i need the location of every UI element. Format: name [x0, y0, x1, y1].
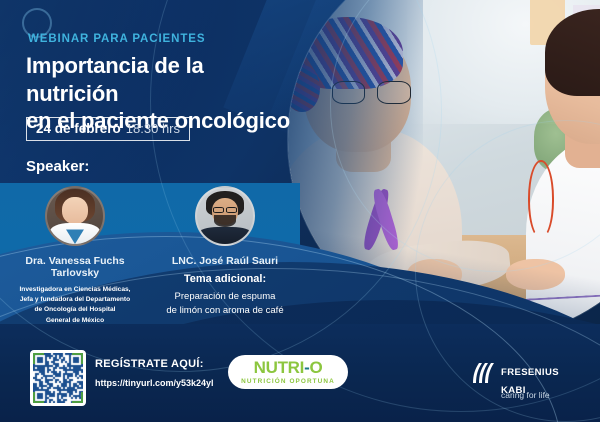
fresenius-tagline: caring for life [501, 390, 550, 400]
event-time: 18:30 hrs [126, 121, 180, 136]
nutrio-main: NUTRI [254, 358, 304, 377]
speaker-name: Dra. Vanessa Fuchs Tarlovsky [0, 255, 150, 279]
speakers-list: Dra. Vanessa Fuchs Tarlovsky Investigado… [0, 186, 300, 326]
registration-heading: REGÍSTRATE AQUÍ: [95, 358, 214, 370]
fresenius-kabi-logo: FRESENIUS KABI caring for life [470, 362, 559, 398]
nutrio-wordmark: NUTRI-O [254, 359, 323, 376]
event-date: 24 de febrero [36, 121, 121, 136]
title-line-1: Importancia de la nutrición [26, 53, 204, 106]
nutrio-subtitle: NUTRICIÓN OPORTUNA [241, 378, 335, 385]
date-time-badge: 24 de febrero 18:30 hrs [26, 117, 190, 141]
additional-topic-body: Preparación de espumade limón con aroma … [166, 290, 283, 318]
nutrio-o: O [309, 358, 322, 377]
speaker-card-1: Dra. Vanessa Fuchs Tarlovsky Investigado… [0, 186, 150, 326]
male-nutritionist-avatar [195, 186, 255, 246]
webinar-poster: WEBINAR PARA PACIENTES Importancia de la… [0, 0, 600, 422]
fresenius-waves-icon [470, 362, 494, 384]
speaker-name: LNC. José Raúl Sauri [172, 255, 278, 267]
fresenius-line-1: FRESENIUS [501, 367, 559, 378]
qr-code-icon[interactable] [30, 350, 86, 406]
poster-kicker: WEBINAR PARA PACIENTES [28, 33, 205, 45]
female-doctor-avatar [45, 186, 105, 246]
registration-block: REGÍSTRATE AQUÍ: https://tinyurl.com/y53… [95, 358, 214, 388]
registration-url[interactable]: https://tinyurl.com/y53k24yl [95, 378, 214, 388]
speaker-credentials: Investigadora en Ciencias Médicas,Jefa y… [19, 285, 130, 326]
speaker-card-2: LNC. José Raúl Sauri Tema adicional: Pre… [150, 186, 300, 326]
nutrio-logo: NUTRI-O NUTRICIÓN OPORTUNA [228, 355, 348, 389]
speaker-section-label: Speaker: [26, 158, 89, 175]
additional-topic-heading: Tema adicional: [184, 273, 266, 285]
